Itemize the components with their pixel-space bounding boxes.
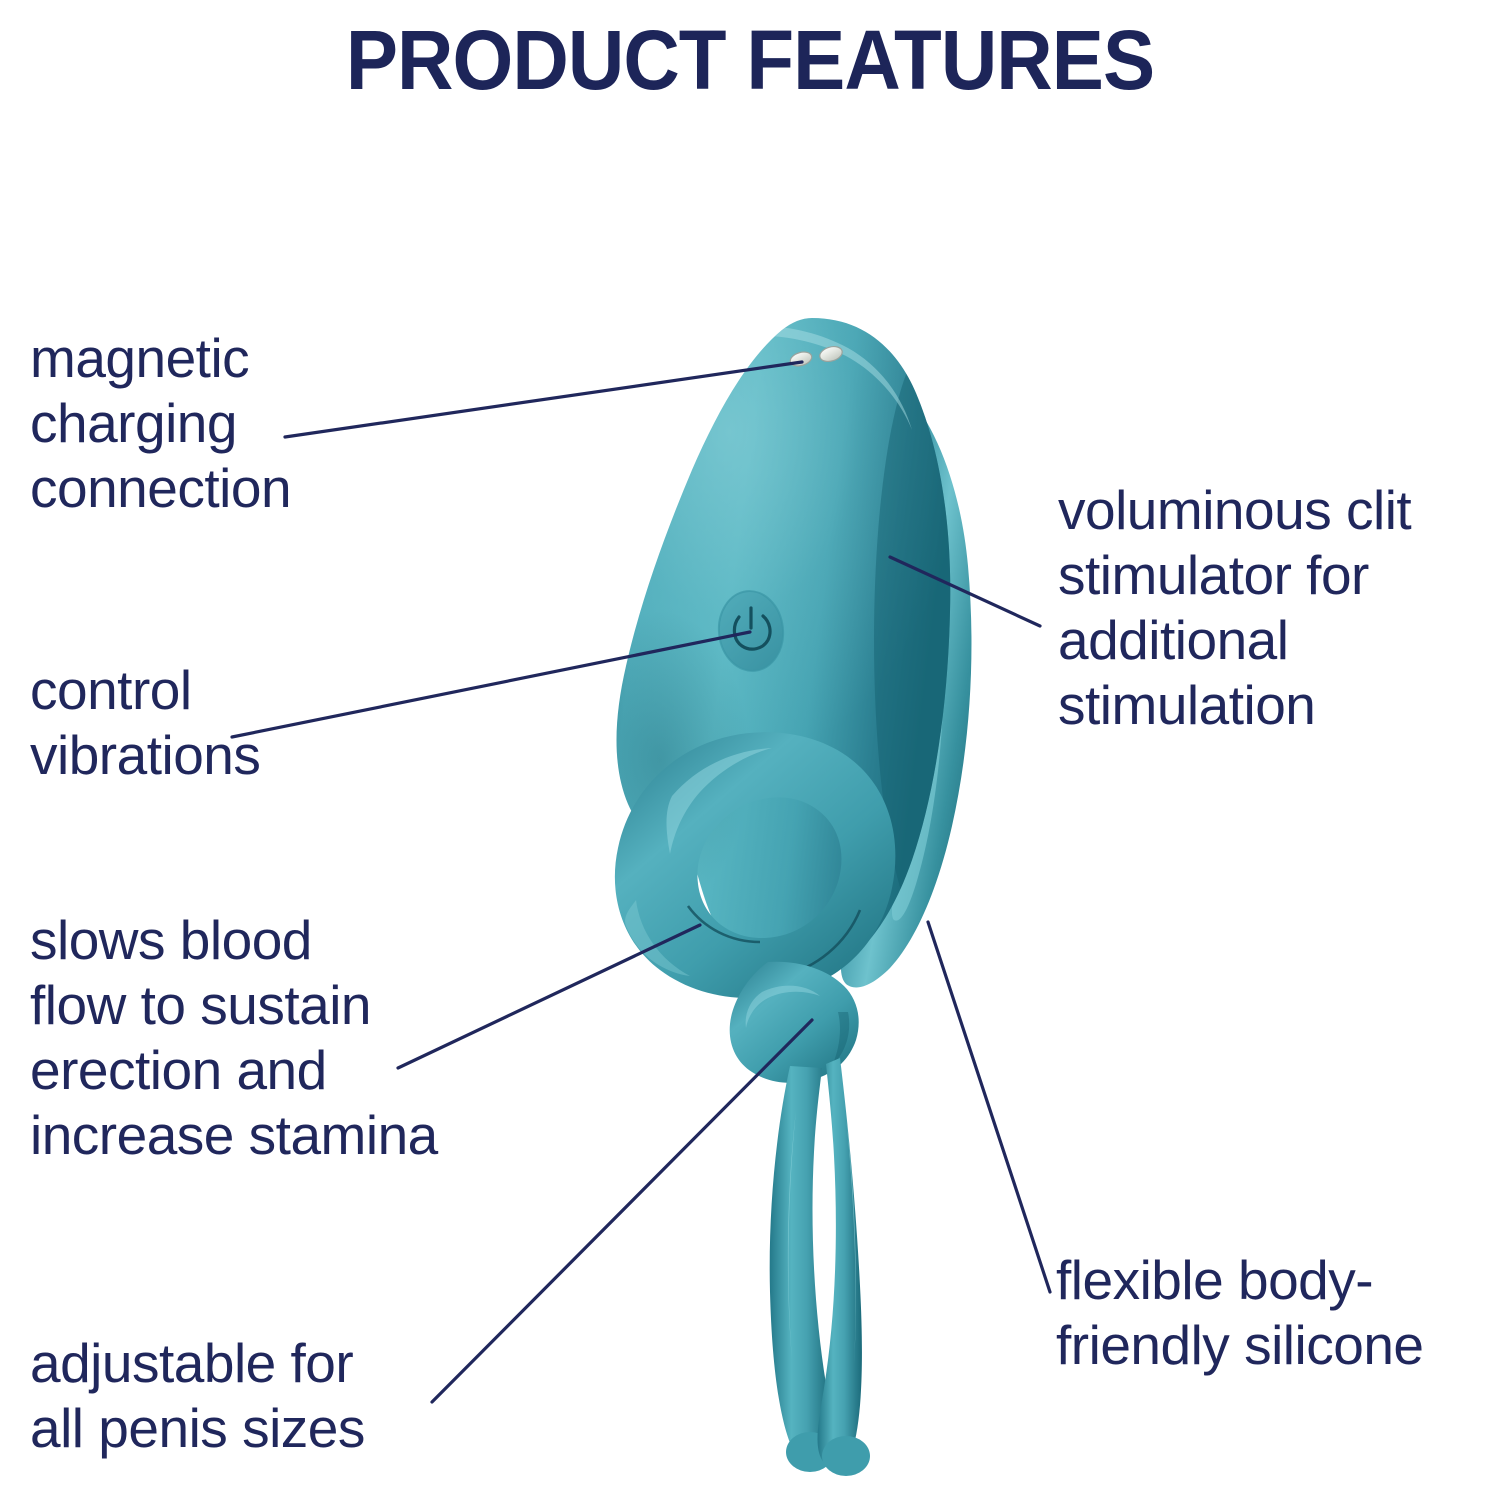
callout-voluminous-clit-stimulator: voluminous clit stimulator for additiona… [1058, 478, 1411, 738]
callout-control-vibrations: control vibrations [30, 658, 260, 788]
callout-adjustable-for-all-sizes: adjustable for all penis sizes [30, 1331, 365, 1461]
callout-slows-blood-flow: slows blood flow to sustain erection and… [30, 908, 438, 1168]
callout-magnetic-charging-connection: magnetic charging connection [30, 326, 291, 521]
infographic-canvas: PRODUCT FEATURES [0, 0, 1500, 1500]
callout-flexible-body-friendly-silicone: flexible body- friendly silicone [1056, 1248, 1424, 1378]
flexible-tails [770, 1058, 870, 1476]
